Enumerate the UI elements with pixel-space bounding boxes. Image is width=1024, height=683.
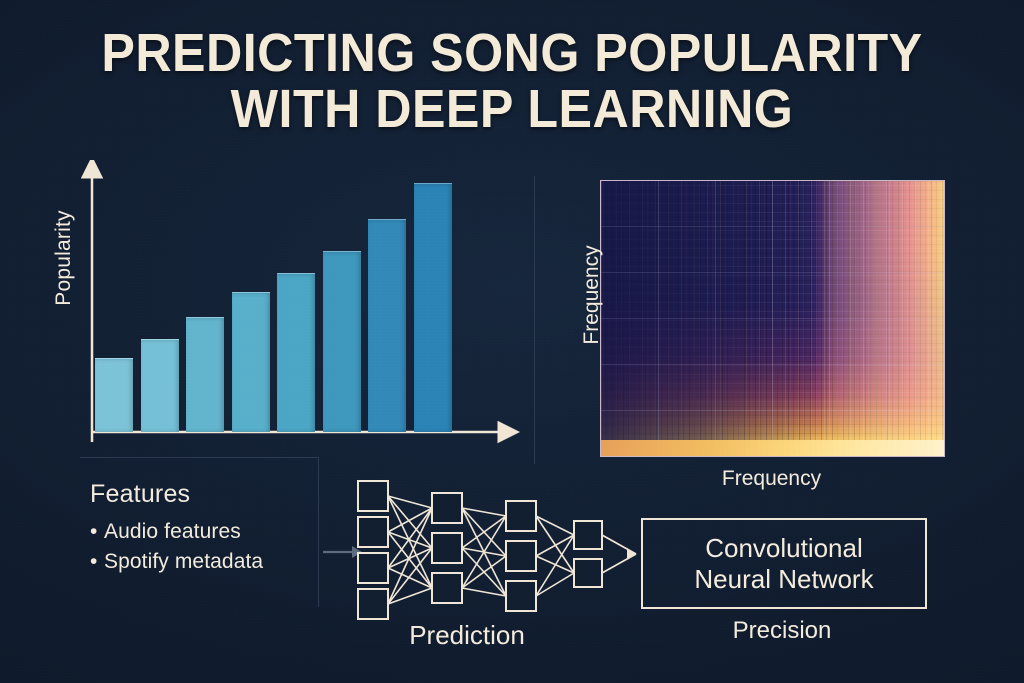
- nn-edge: [388, 496, 432, 508]
- bar-chart-y-axis-label: Popularity: [52, 178, 76, 338]
- model-box-text: Convolutional Neural Network: [694, 533, 873, 594]
- nn-node: [358, 553, 388, 583]
- neural-network-edges: [388, 496, 574, 604]
- poster-canvas: Predicting Song Popularity With Deep Lea…: [0, 0, 1024, 683]
- nn-node: [358, 589, 388, 619]
- nn-node: [358, 517, 388, 547]
- nn-edge: [388, 496, 432, 588]
- vertical-divider-middle: [534, 176, 535, 464]
- features-panel: Features •Audio features •Spotify metada…: [90, 480, 320, 577]
- nn-node: [506, 501, 536, 531]
- feature-label: Audio features: [104, 520, 241, 543]
- features-heading: Features: [90, 480, 320, 509]
- nn-node: [358, 481, 388, 511]
- list-item: •Spotify metadata: [90, 547, 320, 577]
- neural-network-svg: [352, 478, 642, 630]
- nn-edge: [536, 573, 574, 596]
- bar: [368, 219, 406, 432]
- feature-label: Spotify metadata: [104, 550, 263, 573]
- arrow-right-icon: [627, 548, 636, 560]
- bar: [95, 358, 133, 432]
- bar: [141, 339, 179, 432]
- title-line-1: Predicting Song Popularity: [101, 23, 922, 83]
- nn-edge: [462, 516, 506, 588]
- bar: [186, 317, 224, 432]
- nn-node: [506, 581, 536, 611]
- list-item: •Audio features: [90, 517, 320, 547]
- model-caption: Precision: [641, 617, 923, 645]
- spectrogram-grid-layer: [601, 181, 944, 456]
- nn-node: [574, 521, 602, 549]
- bar: [323, 251, 361, 432]
- bullet-icon: •: [90, 517, 104, 547]
- nn-node: [506, 541, 536, 571]
- nn-node: [432, 493, 462, 523]
- spectrogram-x-axis-label: Frequency: [600, 467, 943, 491]
- model-name-line-1: Convolutional: [705, 533, 863, 563]
- spectrogram-baseline-band: [601, 440, 944, 456]
- horizontal-divider-features: [80, 457, 319, 458]
- nn-node: [432, 533, 462, 563]
- bar: [414, 183, 452, 432]
- neural-network-label: Prediction: [352, 620, 582, 651]
- bar-series: [95, 160, 460, 432]
- nn-edge: [388, 568, 432, 588]
- spectrogram-y-axis-label: Frequency: [580, 215, 604, 375]
- bullet-icon: •: [90, 547, 104, 577]
- model-box: Convolutional Neural Network: [641, 518, 927, 609]
- model-name-line-2: Neural Network: [694, 564, 873, 594]
- bar: [277, 273, 315, 432]
- page-title: Predicting Song Popularity With Deep Lea…: [36, 26, 988, 137]
- popularity-bar-chart: Popularity: [30, 160, 535, 460]
- features-list: •Audio features •Spotify metadata: [90, 517, 320, 577]
- spectrogram-panel: Frequency Frequency: [548, 175, 948, 495]
- bar: [232, 292, 270, 432]
- neural-network-diagram: [352, 478, 642, 630]
- nn-node: [574, 559, 602, 587]
- spectrogram-image: [600, 180, 945, 457]
- title-line-2: With Deep Learning: [36, 82, 988, 138]
- nn-node: [432, 573, 462, 603]
